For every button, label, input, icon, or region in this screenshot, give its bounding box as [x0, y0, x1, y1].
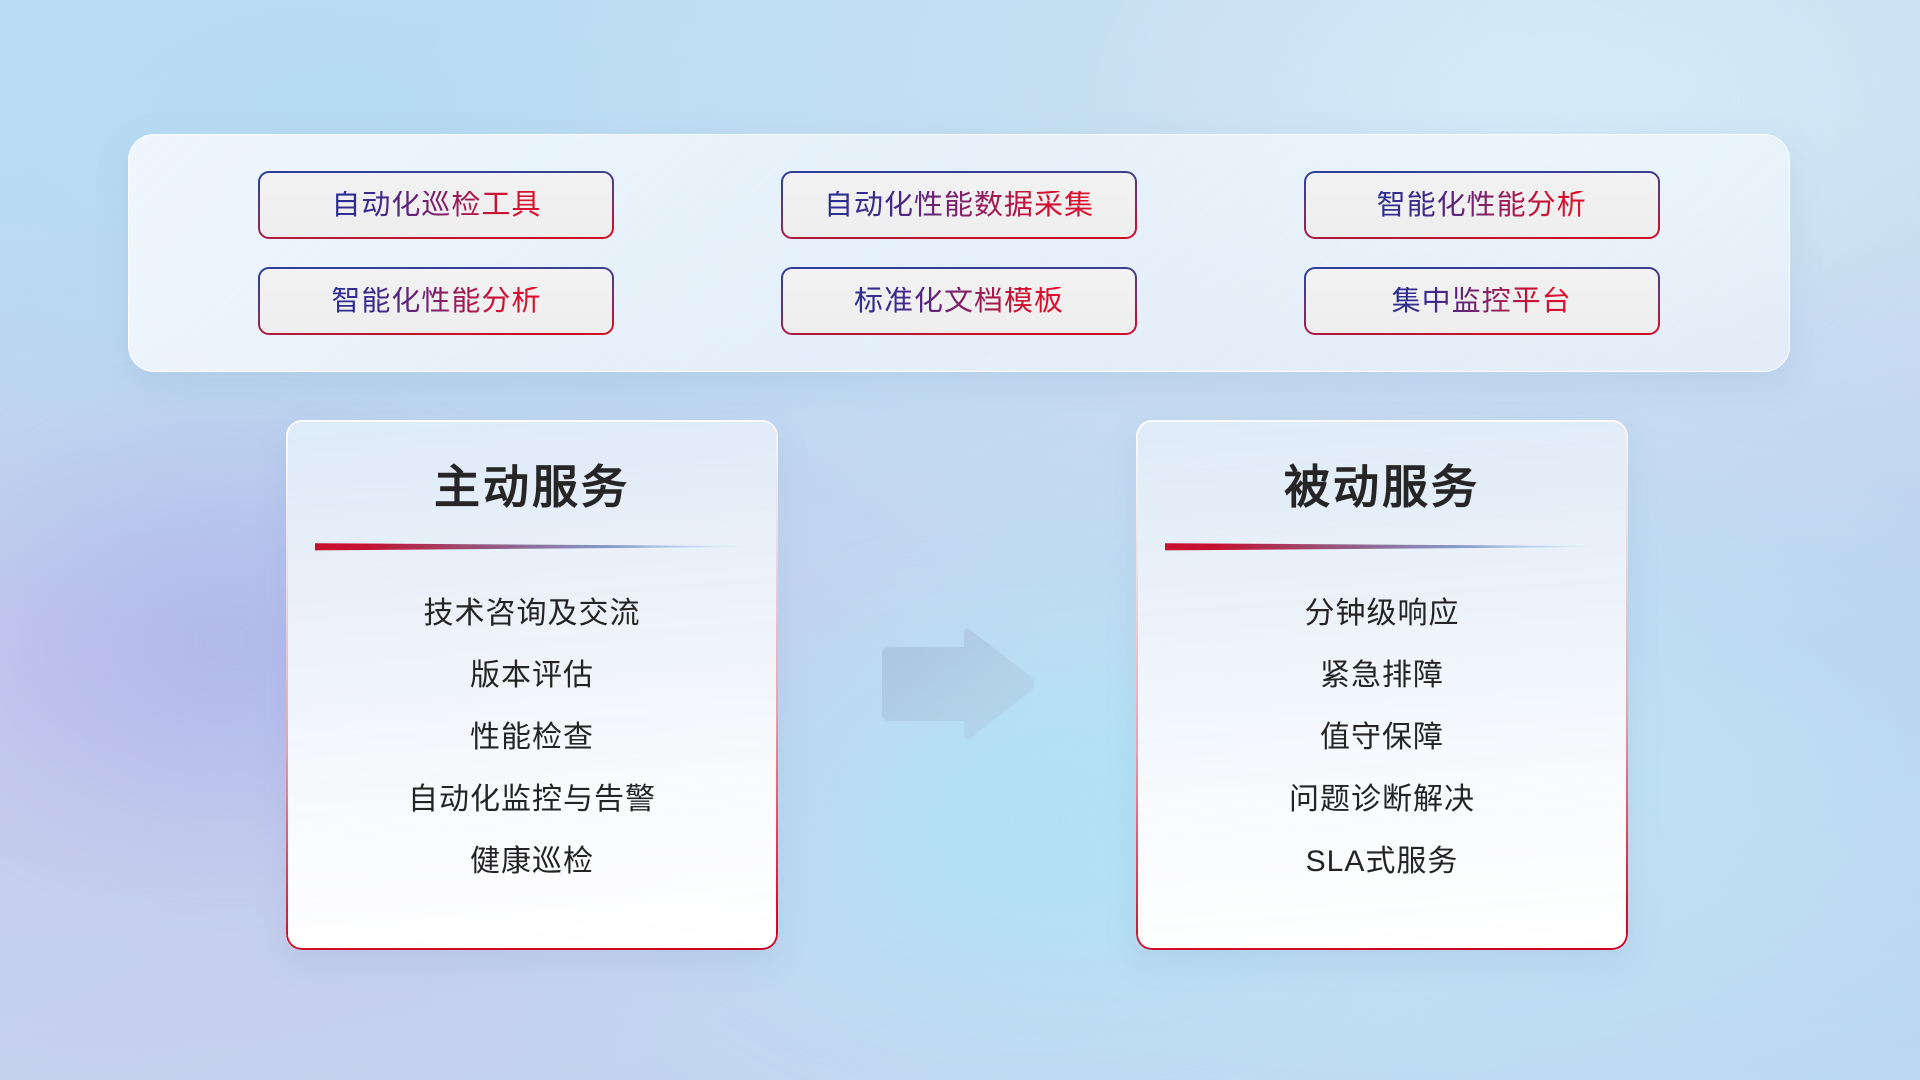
capability-tag[interactable]: 集中监控平台 [1304, 267, 1660, 335]
capability-tag[interactable]: 标准化文档模板 [781, 267, 1137, 335]
list-item: 健康巡检 [470, 831, 594, 893]
service-item-list: 技术咨询及交流 版本评估 性能检查 自动化监控与告警 健康巡检 [288, 583, 776, 893]
list-item: 值守保障 [1320, 707, 1444, 769]
capability-tag-label: 集中监控平台 [1392, 287, 1572, 316]
capability-tag-label: 自动化巡检工具 [331, 191, 541, 220]
list-item: 紧急排障 [1320, 645, 1444, 707]
flow-arrow-right-icon [876, 625, 1038, 745]
list-item: 技术咨询及交流 [424, 583, 641, 645]
capability-tag-panel: 自动化巡检工具 自动化性能数据采集 智能化性能分析 智能化性能分析 标准化文档模… [128, 134, 1790, 372]
active-service-card: 主动服务 技术咨询及交流 版本评估 性能检查 自动化监控与告警 健康巡检 [286, 420, 778, 950]
list-item: 问题诊断解决 [1289, 769, 1475, 831]
card-title: 被动服务 [1138, 464, 1626, 510]
list-item: 版本评估 [470, 645, 594, 707]
service-item-list: 分钟级响应 紧急排障 值守保障 问题诊断解决 SLA式服务 [1138, 583, 1626, 893]
list-item: 自动化监控与告警 [408, 769, 656, 831]
list-item: 分钟级响应 [1305, 583, 1460, 645]
capability-tag[interactable]: 自动化性能数据采集 [781, 171, 1137, 239]
card-title: 主动服务 [288, 464, 776, 510]
capability-tag-label: 智能化性能分析 [331, 287, 541, 316]
list-item: SLA式服务 [1306, 831, 1459, 893]
capability-tag[interactable]: 智能化性能分析 [1304, 171, 1660, 239]
capability-tag-label: 智能化性能分析 [1377, 191, 1587, 220]
list-item: 性能检查 [470, 707, 594, 769]
card-divider [315, 540, 749, 553]
capability-tag-label: 自动化性能数据采集 [824, 191, 1094, 220]
capability-tag[interactable]: 智能化性能分析 [258, 267, 614, 335]
card-divider [1165, 540, 1599, 553]
capability-tag[interactable]: 自动化巡检工具 [258, 171, 614, 239]
capability-tag-label: 标准化文档模板 [854, 287, 1064, 316]
passive-service-card: 被动服务 分钟级响应 紧急排障 值守保障 问题诊断解决 SLA式服务 [1136, 420, 1628, 950]
